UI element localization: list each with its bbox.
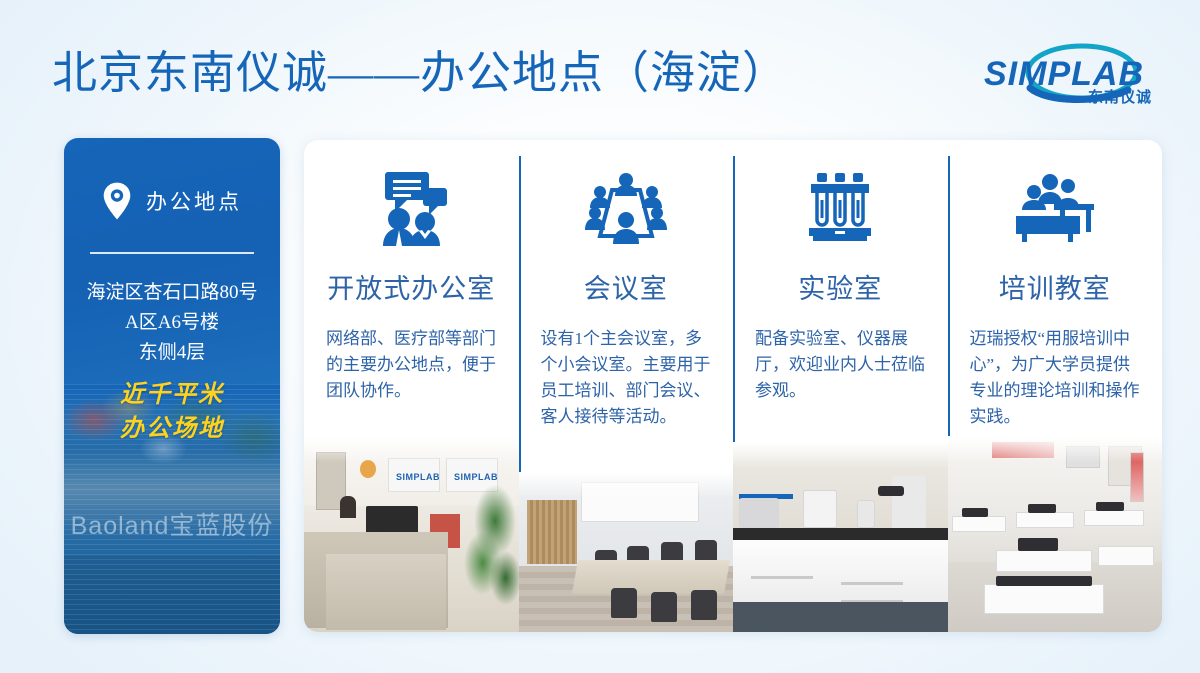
facility-title: 开放式办公室 bbox=[304, 267, 519, 306]
photo-desk bbox=[984, 584, 1104, 614]
photo-equipment bbox=[1096, 502, 1124, 511]
office-area-highlight: 近千平米 办公场地 bbox=[64, 378, 280, 446]
building-sign-text: Baoland宝蓝股份 bbox=[64, 506, 280, 542]
photo-desk bbox=[952, 516, 1006, 532]
photo-fade bbox=[519, 472, 734, 498]
facility-column-laboratory[interactable]: 实验室 配备实验室、仪器展厅，欢迎业内人士莅临参观。 bbox=[733, 140, 948, 632]
photo-desk bbox=[1084, 510, 1144, 526]
test-tubes-icon bbox=[733, 166, 948, 250]
photo-equipment bbox=[1018, 538, 1058, 551]
page-title: 北京东南仪诚——办公地点（海淀） bbox=[52, 36, 788, 101]
photo-desk bbox=[326, 554, 446, 630]
logo-icon: SIMPLAB 东南仪诚 bbox=[976, 38, 1172, 110]
photo-chair bbox=[611, 588, 637, 618]
facility-title: 会议室 bbox=[519, 267, 734, 306]
office-location-card: Baoland宝蓝股份 办公地点 海淀区杏石口路80号 A区A6号楼 东侧4层 … bbox=[64, 138, 280, 634]
photo-fade bbox=[304, 436, 519, 462]
photo-bench-top bbox=[733, 528, 948, 540]
office-address: 海淀区杏石口路80号 A区A6号楼 东侧4层 bbox=[74, 278, 270, 368]
photo-desk bbox=[996, 550, 1092, 572]
laboratory-photo bbox=[733, 442, 948, 632]
photo-equipment bbox=[996, 576, 1092, 586]
facility-column-training-classroom[interactable]: 培训教室 迈瑞授权“用服培训中心”，为广大学员提供专业的理论培训和操作实践。 bbox=[948, 140, 1163, 632]
photo-equipment bbox=[1028, 504, 1056, 513]
svg-text:东南仪诚: 东南仪诚 bbox=[1088, 88, 1152, 106]
photo-desk bbox=[1098, 546, 1154, 566]
photo-instrument bbox=[857, 500, 875, 528]
meeting-table-icon bbox=[519, 166, 734, 250]
card-divider bbox=[90, 252, 254, 254]
people-chat-icon bbox=[304, 166, 519, 250]
photo-cabinet bbox=[733, 540, 948, 602]
facility-column-open-office[interactable]: 开放式办公室 网络部、医疗部等部门的主要办公地点，便于团队协作。 SIMPLAB… bbox=[304, 140, 519, 632]
card-header: 办公地点 bbox=[64, 182, 280, 220]
classroom-desk-icon bbox=[948, 166, 1163, 250]
photo-equipment bbox=[962, 508, 988, 517]
photo-fade bbox=[733, 442, 948, 468]
facility-title: 培训教室 bbox=[948, 267, 1163, 306]
training-classroom-photo bbox=[948, 436, 1163, 632]
photo-conference-table bbox=[572, 560, 730, 594]
facility-description: 设有1个主会议室，多个小会议室。主要用于员工培训、部门会议、客人接待等活动。 bbox=[541, 326, 718, 430]
simplab-logo: SIMPLAB 东南仪诚 bbox=[976, 38, 1172, 110]
facility-title: 实验室 bbox=[733, 267, 948, 306]
facility-description: 配备实验室、仪器展厅，欢迎业内人士莅临参观。 bbox=[755, 326, 932, 404]
photo-person bbox=[340, 496, 356, 518]
photo-chair bbox=[651, 592, 677, 622]
photo-floor bbox=[733, 602, 948, 632]
open-office-photo: SIMPLAB SIMPLAB bbox=[304, 436, 519, 632]
meeting-room-photo bbox=[519, 472, 734, 632]
photo-fade bbox=[948, 436, 1163, 462]
photo-cabinet-handle bbox=[841, 582, 903, 585]
photo-instrument bbox=[803, 490, 837, 528]
photo-desk bbox=[1016, 512, 1074, 528]
photo-instrument bbox=[739, 498, 779, 528]
photo-wood-panel bbox=[527, 500, 577, 564]
photo-plant bbox=[461, 470, 519, 620]
facilities-panel: 开放式办公室 网络部、医疗部等部门的主要办公地点，便于团队协作。 SIMPLAB… bbox=[304, 140, 1162, 632]
facility-description: 网络部、医疗部等部门的主要办公地点，便于团队协作。 bbox=[326, 326, 503, 404]
location-pin-icon bbox=[102, 182, 132, 220]
photo-cabinet-handle bbox=[751, 576, 813, 579]
facility-description: 迈瑞授权“用服培训中心”，为广大学员提供专业的理论培训和操作实践。 bbox=[970, 326, 1147, 430]
photo-road bbox=[64, 556, 280, 634]
svg-text:SIMPLAB: SIMPLAB bbox=[984, 55, 1144, 93]
card-header-label: 办公地点 bbox=[146, 186, 242, 216]
facility-column-meeting-room[interactable]: 会议室 设有1个主会议室，多个小会议室。主要用于员工培训、部门会议、客人接待等活… bbox=[519, 140, 734, 632]
photo-microscope bbox=[892, 476, 926, 530]
photo-wall-logo: SIMPLAB bbox=[396, 472, 440, 482]
photo-mascot bbox=[360, 460, 376, 478]
photo-chair bbox=[691, 590, 717, 620]
